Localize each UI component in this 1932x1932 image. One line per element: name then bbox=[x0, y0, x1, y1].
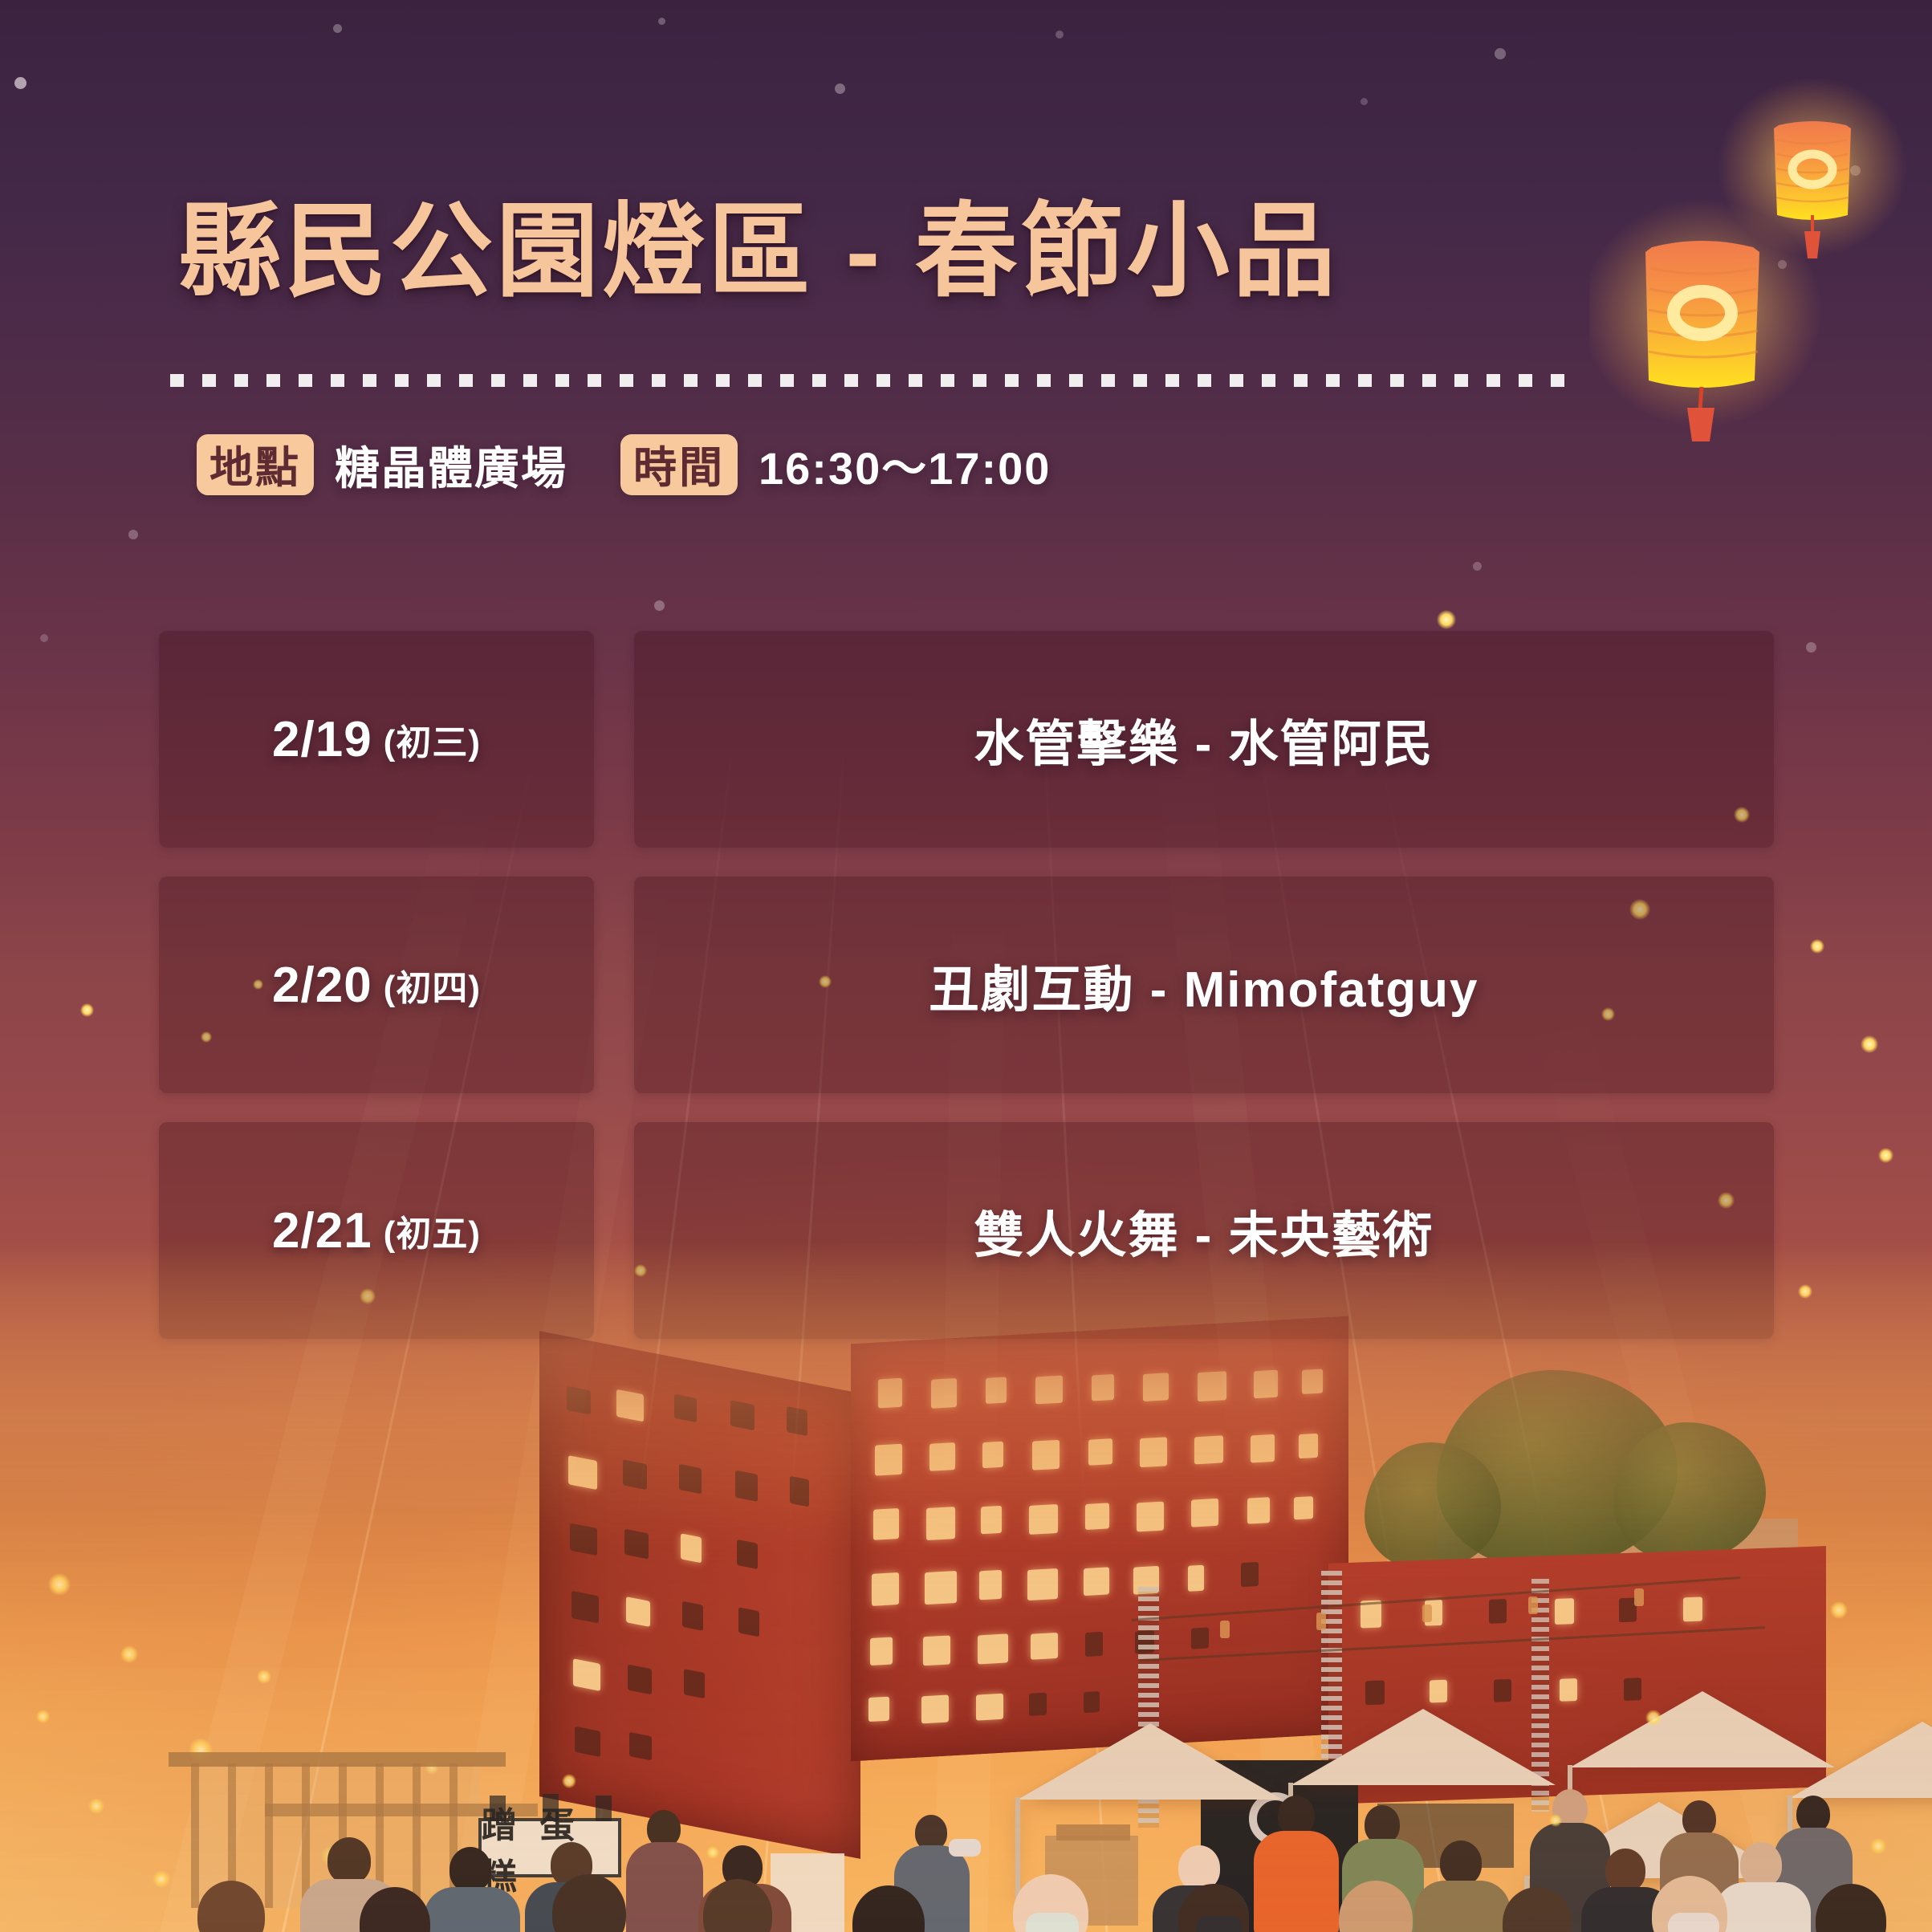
night-market-photo: 蹭 蛋 糕 bbox=[0, 1242, 1932, 1932]
activity-cell: 雙人火舞 - 未央藝術 bbox=[634, 1122, 1774, 1339]
sky-lantern-icon-large bbox=[1589, 199, 1822, 441]
dotted-divider bbox=[170, 374, 1565, 387]
date-value: 2/19 bbox=[272, 711, 372, 768]
table-row: 2/21 (初五) 雙人火舞 - 未央藝術 bbox=[159, 1122, 1774, 1339]
bottom-left-glow bbox=[0, 1236, 1005, 1932]
time-label-badge: 時間 bbox=[620, 434, 738, 495]
lunar-date-value: (初五) bbox=[384, 1205, 481, 1256]
red-lattice-side bbox=[539, 1331, 860, 1859]
lunar-date-value: (初四) bbox=[384, 959, 481, 1011]
date-value: 2/21 bbox=[272, 1202, 372, 1259]
date-value: 2/20 bbox=[272, 957, 372, 1014]
red-lattice-front bbox=[851, 1316, 1348, 1762]
activity-cell: 水管擊樂 - 水管阿民 bbox=[634, 631, 1774, 848]
date-cell: 2/19 (初三) bbox=[159, 631, 594, 848]
activity-value: 水管擊樂 - 水管阿民 bbox=[974, 703, 1434, 775]
sky-lanterns-group bbox=[1589, 72, 1932, 449]
page-title: 縣民公園燈區 - 春節小品 bbox=[178, 194, 1339, 309]
event-info-row: 地點 糖晶體廣場 時間 16:30〜17:00 bbox=[197, 433, 1051, 496]
poster-canvas: 縣民公園燈區 - 春節小品 地點 糖晶體廣場 時間 16:30〜17:00 2/… bbox=[0, 0, 1932, 1932]
activity-value: 丑劇互動 - Mimofatguy bbox=[929, 949, 1479, 1021]
table-row: 2/20 (初四) 丑劇互動 - Mimofatguy bbox=[159, 877, 1774, 1093]
activity-cell: 丑劇互動 - Mimofatguy bbox=[634, 877, 1774, 1093]
location-value: 糖晶體廣場 bbox=[335, 433, 567, 498]
location-label-badge: 地點 bbox=[197, 434, 314, 495]
lunar-date-value: (初三) bbox=[384, 714, 481, 765]
date-cell: 2/20 (初四) bbox=[159, 877, 594, 1093]
activity-value: 雙人火舞 - 未央藝術 bbox=[974, 1194, 1434, 1267]
time-value: 16:30〜17:00 bbox=[759, 433, 1051, 498]
schedule-table: 2/19 (初三) 水管擊樂 - 水管阿民 2/20 (初四) 丑劇互動 - M… bbox=[159, 631, 1774, 1339]
date-cell: 2/21 (初五) bbox=[159, 1122, 594, 1339]
red-lattice-wing bbox=[1328, 1546, 1826, 1804]
table-row: 2/19 (初三) 水管擊樂 - 水管阿民 bbox=[159, 631, 1774, 848]
stall-signboard: 蹭 蛋 糕 bbox=[478, 1818, 621, 1877]
